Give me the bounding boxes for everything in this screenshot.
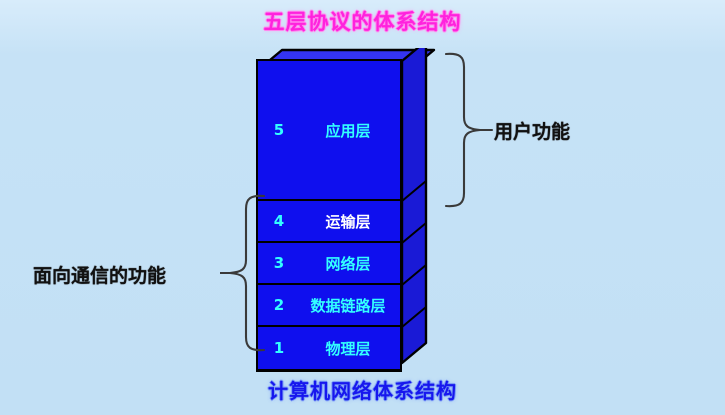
protocol-layer-list: 5 应用层 4 运输层 3 网络层 2 数据链路层 1 物理层 <box>256 59 402 372</box>
layer-label-4: 运输层 <box>300 211 400 232</box>
layer-row-4[interactable]: 4 运输层 <box>258 201 400 243</box>
user-function-label: 用户功能 <box>494 117 570 144</box>
diagram-title: 五层协议的体系结构 <box>0 6 725 36</box>
communication-function-label: 面向通信的功能 <box>33 261 166 288</box>
layer-label-5: 应用层 <box>300 120 400 141</box>
layer-label-2: 数据链路层 <box>300 295 400 316</box>
layer-row-2[interactable]: 2 数据链路层 <box>258 285 400 327</box>
user-function-brace-icon <box>440 46 496 214</box>
layer-label-3: 网络层 <box>300 253 400 274</box>
diagram-canvas: 五层协议的体系结构 5 应用层 4 运输层 3 网 <box>0 0 725 415</box>
diagram-caption: 计算机网络体系结构 <box>0 375 725 404</box>
layer-row-1[interactable]: 1 物理层 <box>258 327 400 369</box>
layer-number-5: 5 <box>258 121 300 139</box>
communication-function-brace-icon <box>220 188 270 358</box>
layer-row-5[interactable]: 5 应用层 <box>258 61 400 201</box>
layer-label-1: 物理层 <box>300 338 400 359</box>
layer-row-3[interactable]: 3 网络层 <box>258 243 400 285</box>
